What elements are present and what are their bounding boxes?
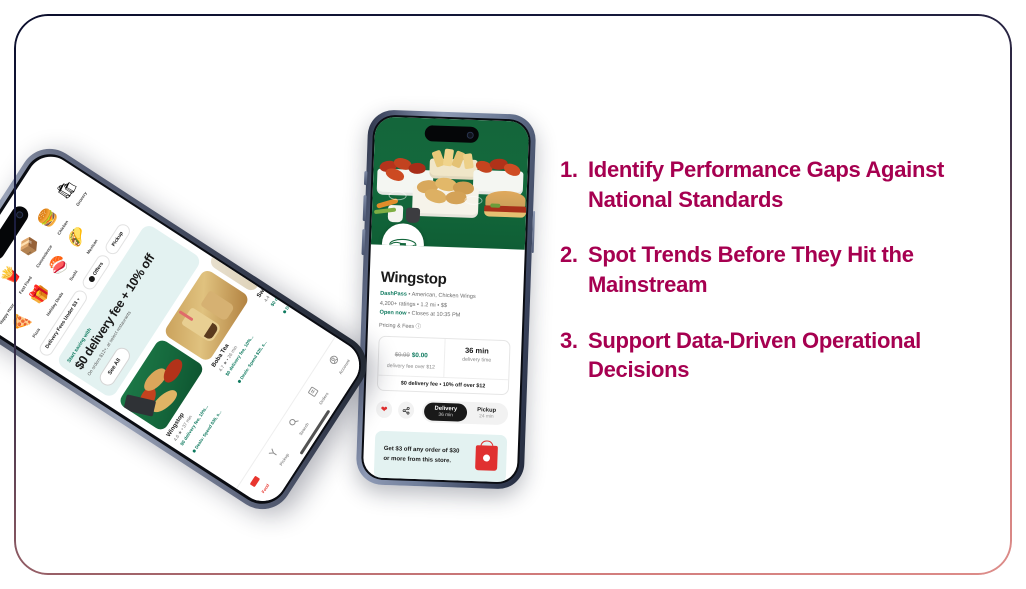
dip-cup-dark [406,208,421,223]
phone-right-wingstop-store: Wingstop DashPass • American, Chicken Wi… [356,109,537,490]
store-ratings-distance-price: 4,200+ ratings • 1.2 mi • $$ [380,300,447,308]
phone-right-bezel: Wingstop DashPass • American, Chicken Wi… [361,114,532,484]
food-wing [160,357,185,387]
phone-left-doordash-home: 🍅 Happy Hour 🍟 Fast Food 📦 Convenience [0,137,378,520]
store-hero-image [371,116,529,249]
deal-bullet-icon [192,449,196,453]
offers-icon [87,275,95,283]
wingstop-wing-watermark [388,191,406,201]
list-item-number: 2. [560,240,588,270]
delivery-tab-label: Delivery [435,405,458,412]
tab-orders[interactable]: Orders [305,383,329,405]
restaurant-meta: 4.4 ★ • 31 min [263,235,311,304]
tab-food[interactable]: Food [248,475,270,494]
promo-text: Get $3 off any order of $30 or more from… [383,445,466,466]
list-item: 3. Support Data-Driven Operational Decis… [560,326,1000,385]
phone-left-bezel: 🍅 Happy Hour 🍟 Fast Food 📦 Convenience [0,144,371,513]
tab-pickup[interactable]: Pickup [266,444,290,466]
pickle-slice [490,203,500,207]
restaurant-fee: $0 delivery fee [270,239,317,307]
delivery-pickup-toggle[interactable]: Delivery 36 min Pickup 24 min [422,400,508,425]
category-label: Sushi [68,269,78,281]
list-item-number: 1. [560,155,588,185]
store-actions-row: ❤ [376,398,509,425]
wingstop-wing-watermark [464,196,482,206]
delivery-tab-time: 36 min [434,412,457,418]
heart-icon: ❤ [381,405,388,414]
dynamic-island [425,125,480,143]
delivery-time-sub: delivery time [448,356,505,364]
pickup-tab-time: 24 min [477,414,496,420]
store-closing-time: • Closes at 10:35 PM [406,311,460,319]
pickup-tab-label: Pickup [477,407,496,414]
share-icon [402,406,410,414]
fry-piece [463,153,474,169]
chip-label: Pickup [110,230,124,247]
delivery-fee-discounted: $0.00 [412,351,428,359]
key-points-list: 1. Identify Performance Gaps Against Nat… [560,155,1000,411]
deal-bullet-icon [237,380,241,384]
fee-row: $0.99$0.00 delivery fee over $12 36 min … [378,336,509,379]
dashpass-badge: DashPass [380,291,407,298]
pricing-and-fees-label: Pricing & Fees [379,322,414,329]
tab-search[interactable]: Search [285,414,309,437]
store-meta: DashPass • American, Chicken Wings 4,200… [379,290,512,323]
fee-summary-card: $0.99$0.00 delivery fee over $12 36 min … [377,335,511,395]
slide-root: Wingstop DashPass • American, Chicken Wi… [0,0,1026,589]
deal-bullet-icon [282,310,286,314]
phone-right-screen: Wingstop DashPass • American, Chicken Wi… [363,116,530,482]
category-label: Pizza [31,327,41,339]
list-item: 2. Spot Trends Before They Hit the Mains… [560,240,1000,299]
delivery-fee-cell: $0.99$0.00 delivery fee over $12 [378,336,444,376]
store-cuisine: • American, Chicken Wings [407,292,476,300]
store-info-section: Wingstop DashPass • American, Chicken Wi… [363,244,525,482]
delivery-tab[interactable]: Delivery 36 min [424,402,467,421]
tab-account[interactable]: Account [325,350,351,375]
dessert [239,233,265,261]
shopping-bag-icon [475,445,498,471]
store-name: Wingstop [380,269,513,291]
sandwich-bottom-bun [484,211,526,217]
chip-label: Offers [91,261,104,277]
favorite-button[interactable]: ❤ [376,401,393,419]
store-open-status: Open now [379,310,406,317]
phone-right-silent-switch[interactable] [364,171,367,185]
share-button[interactable] [398,401,415,419]
list-item: 1. Identify Performance Gaps Against Nat… [560,155,1000,214]
list-item-text: Support Data-Driven Operational Decision… [588,326,1000,385]
list-item-text: Spot Trends Before They Hit the Mainstre… [588,240,1000,299]
delivery-fee-sub: delivery fee over $12 [383,362,440,370]
phone-mockups-group: Wingstop DashPass • American, Chicken Wi… [0,0,560,589]
delivery-fee-original: $0.99 [395,352,410,359]
list-item-text: Identify Performance Gaps Against Nation… [588,155,1000,214]
delivery-time-value: 36 min [449,345,506,356]
list-item-number: 3. [560,326,588,356]
delivery-time-cell: 36 min delivery time [443,338,510,378]
pickup-tab[interactable]: Pickup 24 min [467,403,507,422]
promo-card[interactable]: Get $3 off any order of $30 or more from… [374,430,508,482]
restaurant-name: Sweets [256,230,304,299]
